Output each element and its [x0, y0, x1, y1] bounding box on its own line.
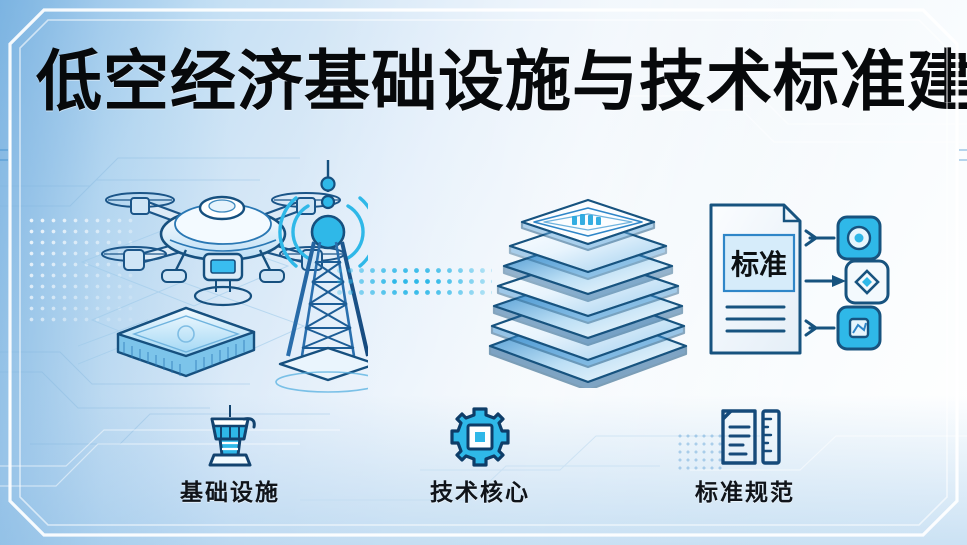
layered-standards-stack [478, 178, 698, 388]
poster-stage: 标准 [0, 0, 967, 545]
pillar-technology-core[interactable]: 技术核心 [380, 405, 580, 507]
pillar-standards[interactable]: 标准规范 [645, 405, 845, 507]
page-title: 低空经济基础设施与技术标准建设 [36, 46, 936, 116]
pillar-label: 技术核心 [380, 473, 580, 507]
standard-document-nodes: 标准 [706, 195, 896, 375]
pillar-row: 基础设施 技术核心 [0, 405, 967, 525]
pillar-infrastructure[interactable]: 基础设施 [130, 405, 330, 507]
standard-doc-label: 标准 [731, 248, 787, 281]
dot-matrix-connector [334, 265, 492, 299]
control-tower-icon [130, 405, 330, 467]
document-ruler-icon [645, 405, 845, 467]
gear-chip-icon [380, 405, 580, 467]
pillar-label: 基础设施 [130, 473, 330, 507]
drone-tower-scene [78, 150, 368, 400]
pillar-label: 标准规范 [645, 473, 845, 507]
